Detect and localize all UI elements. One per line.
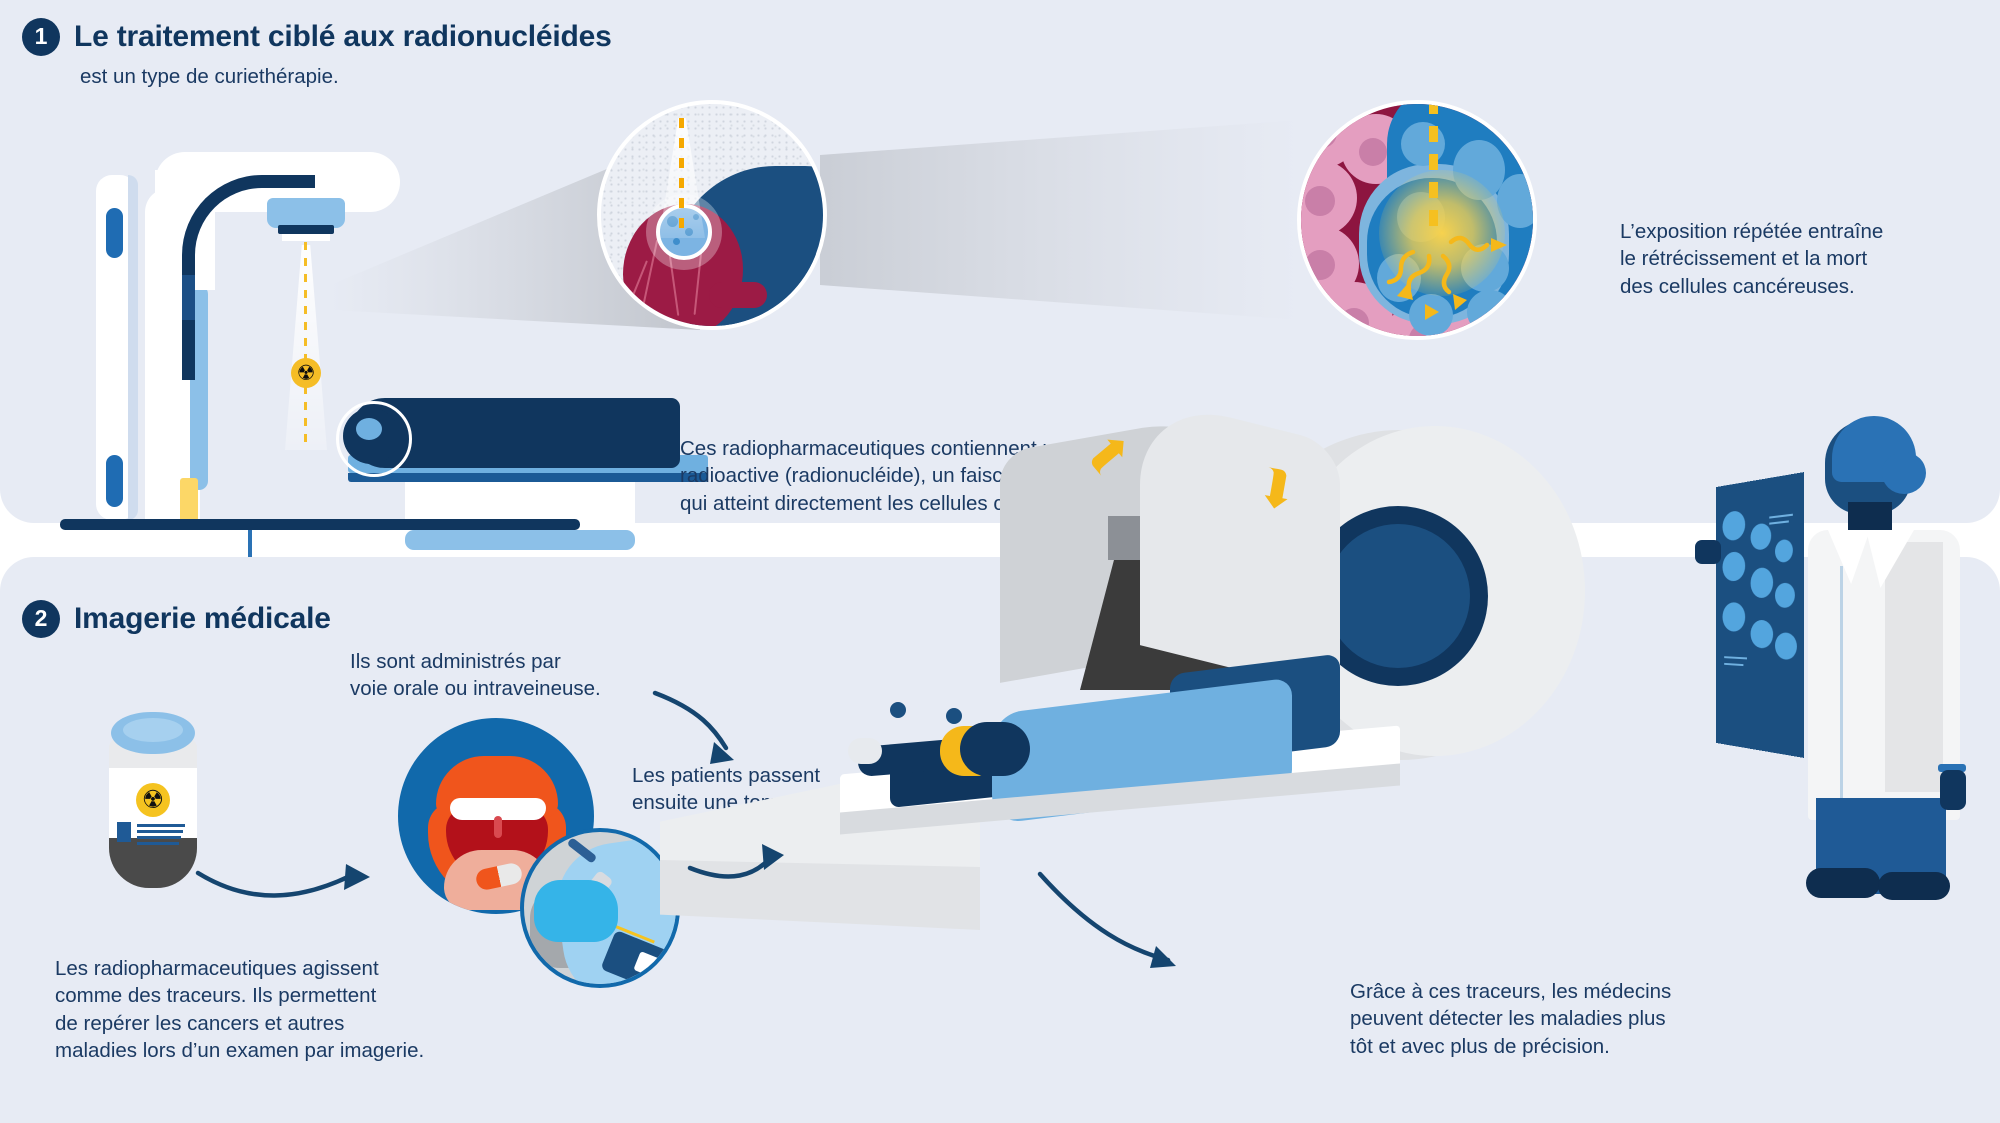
arrowhead bbox=[344, 864, 370, 890]
infographic-canvas: 1 Le traitement ciblé aux radionucléides… bbox=[0, 0, 2000, 1123]
arrow-oral-to-mouth bbox=[655, 693, 726, 748]
arrowhead bbox=[762, 844, 784, 870]
connector-arrows bbox=[0, 0, 2000, 1123]
arrow-to-scanner bbox=[690, 856, 772, 877]
arrow-to-detection bbox=[1040, 874, 1168, 960]
arrowhead bbox=[1150, 946, 1176, 968]
arrow-vial-to-mouth bbox=[198, 873, 350, 896]
